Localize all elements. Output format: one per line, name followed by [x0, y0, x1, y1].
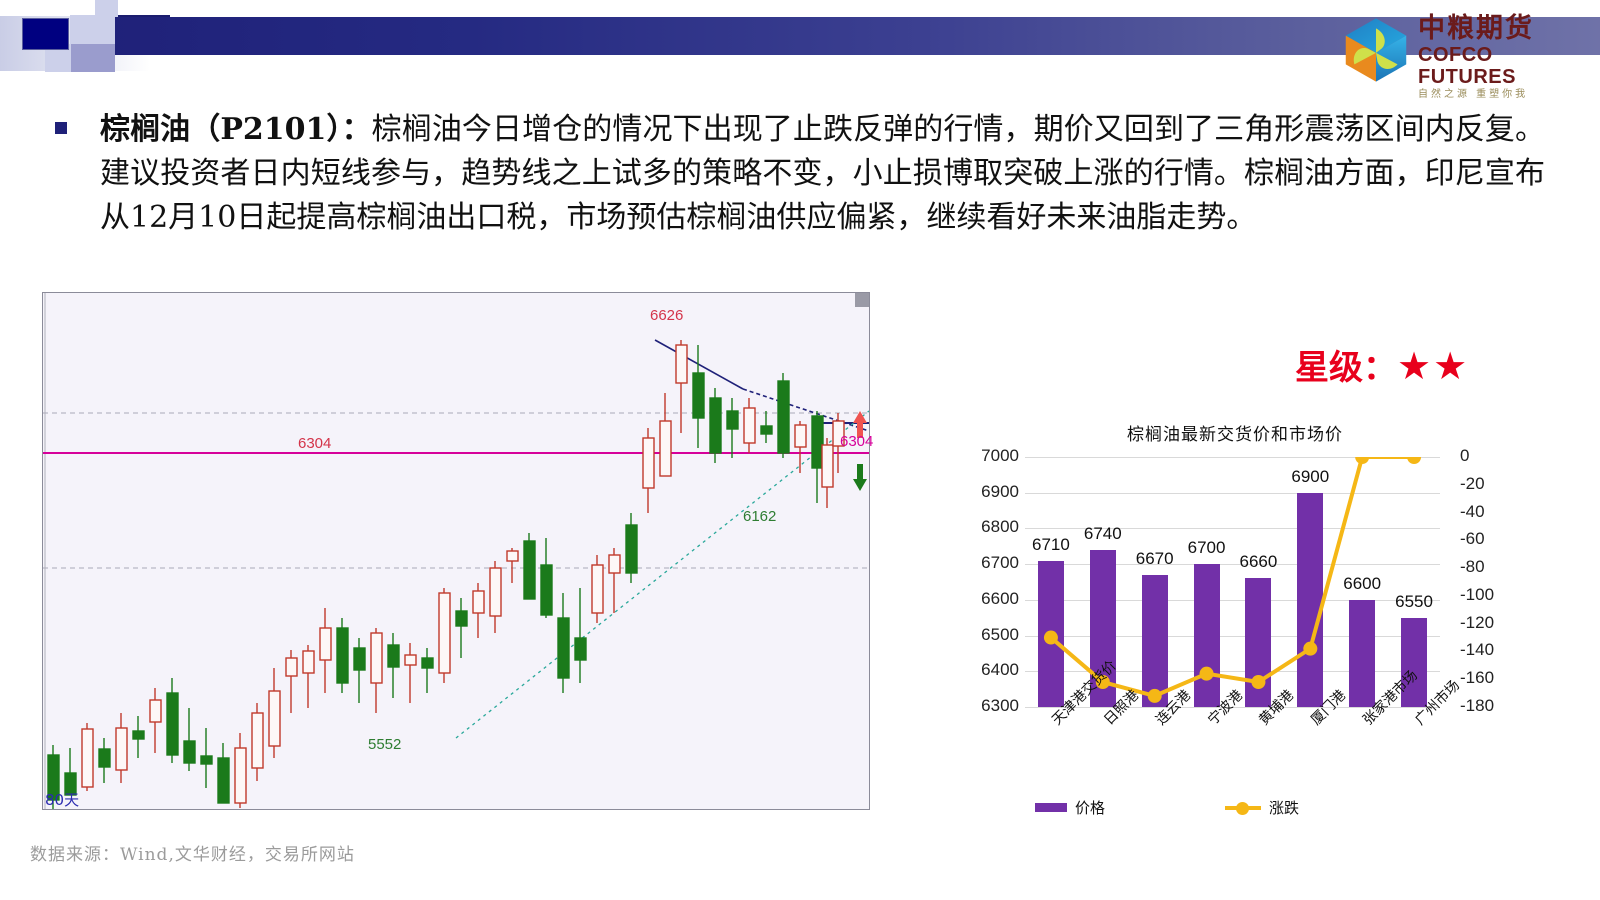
cofco-logo: 中粮期货 COFCO FUTURES 自然之源 重塑你我	[1340, 12, 1590, 90]
y-tick-label: 6300	[949, 696, 1019, 716]
y-tick-label: 7000	[949, 446, 1019, 466]
legend-item-price[interactable]: 价格	[1035, 797, 1105, 818]
y2-tick-label: -60	[1460, 529, 1520, 549]
bullet-marker-icon	[55, 122, 67, 134]
palm-oil-price-chart[interactable]: 棕榈油最新交货价和市场价 671067406670670066606900660…	[905, 412, 1565, 842]
star-icon-group: ★★	[1397, 344, 1469, 388]
legend-label-change: 涨跌	[1269, 797, 1299, 818]
line-series-overlay	[1025, 457, 1440, 707]
y2-tick-label: 0	[1460, 446, 1520, 466]
bar-chart-title: 棕榈油最新交货价和市场价	[905, 420, 1565, 445]
y-tick-label: 6500	[949, 625, 1019, 645]
y2-tick-label: -140	[1460, 640, 1520, 660]
y2-tick-label: -180	[1460, 696, 1520, 716]
y-tick-label: 6400	[949, 660, 1019, 680]
y-tick-label: 6700	[949, 553, 1019, 573]
legend-item-change[interactable]: 涨跌	[1225, 797, 1299, 818]
kchart-label-high: 6626	[650, 307, 683, 324]
candlestick-canvas	[43, 293, 869, 809]
kchart-label-low: 5552	[368, 736, 401, 753]
y2-tick-label: -120	[1460, 613, 1520, 633]
star-rating: 星级：★★	[1295, 340, 1469, 389]
y-tick-label: 6800	[949, 517, 1019, 537]
y-tick-label: 6600	[949, 589, 1019, 609]
logo-brand-cn: 中粮期货	[1418, 14, 1590, 44]
kchart-label-period: 80天	[45, 789, 79, 810]
commentary-title: 棕榈油（P2101）：	[100, 112, 372, 147]
bar-chart-plot-area: 67106740667067006660690066006550	[1025, 457, 1440, 707]
y2-tick-label: -80	[1460, 557, 1520, 577]
commentary-block: 棕榈油（P2101）：棕榈油今日增仓的情况下出现了止跌反弹的行情，期价又回到了三…	[55, 108, 1545, 240]
down-arrow-marker	[853, 464, 867, 491]
header-square-light-1	[70, 15, 115, 44]
kchart-label-low-recent: 6162	[743, 508, 776, 525]
star-rating-label: 星级：	[1295, 348, 1397, 388]
legend-bar-swatch-icon	[1035, 803, 1067, 812]
palm-oil-candlestick-chart[interactable]: 6626 6304 6162 5552 80天 6304	[42, 292, 870, 810]
header-square-mid-1	[70, 44, 115, 72]
y-tick-label: 6900	[949, 482, 1019, 502]
legend-label-price: 价格	[1075, 797, 1105, 818]
commentary-paragraph: 棕榈油（P2101）：棕榈油今日增仓的情况下出现了止跌反弹的行情，期价又回到了三…	[100, 108, 1545, 240]
header-square-navy	[22, 18, 69, 50]
y2-tick-label: -160	[1460, 668, 1520, 688]
kchart-label-resistance: 6304	[298, 435, 331, 452]
kchart-label-right-price: 6304	[840, 433, 873, 450]
data-source-footer: 数据来源：Wind,文华财经，交易所网站	[30, 840, 355, 865]
y2-tick-label: -40	[1460, 502, 1520, 522]
logo-brand-en: COFCO FUTURES	[1418, 44, 1590, 88]
legend-line-swatch-icon	[1225, 806, 1261, 810]
logo-slogan: 自然之源 重塑你我	[1418, 88, 1590, 102]
cofco-cube-icon	[1340, 14, 1412, 86]
y2-tick-label: -100	[1460, 585, 1520, 605]
y2-tick-label: -20	[1460, 474, 1520, 494]
